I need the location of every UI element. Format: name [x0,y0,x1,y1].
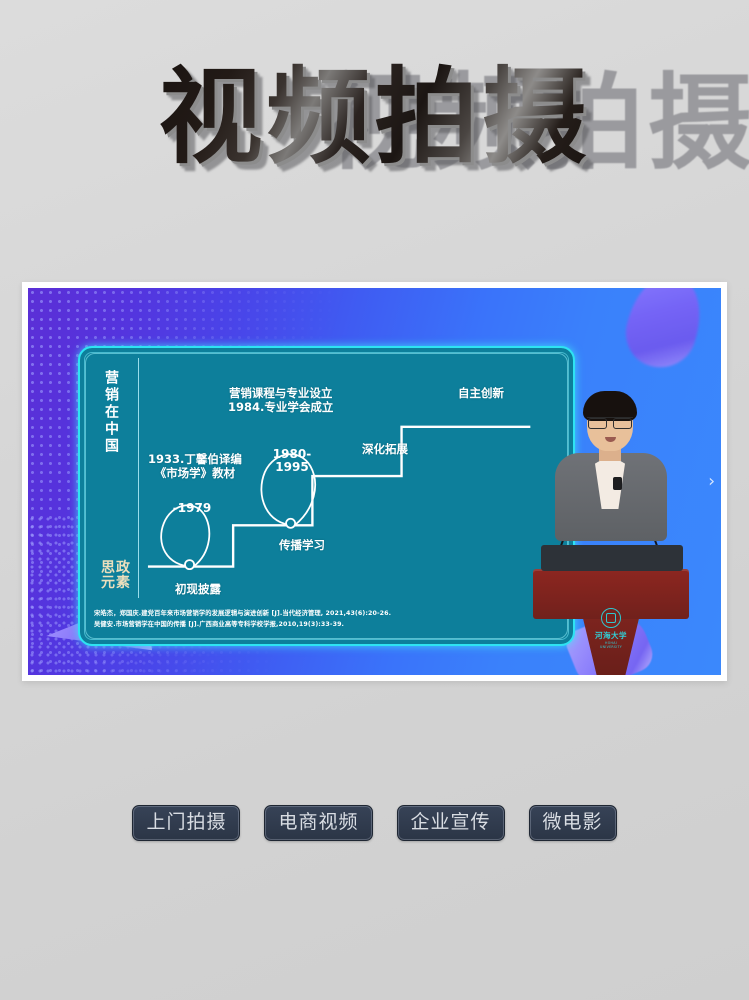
panel-vertical-divider [138,358,139,598]
timeline-caption-2: 传播学习 [262,538,342,552]
page-title: 视频拍摄 视频拍摄 [0,58,749,208]
university-emblem: 河海大学 HOHAI UNIVERSITY [595,608,627,649]
chevron-right-icon[interactable]: › [708,473,715,490]
decor-blob-top-right-icon [618,288,711,376]
slide-canvas: 营销在中国 思政元素 1933.丁馨伯译编 《市场学》教材 [28,288,721,675]
page-title-text: 视频拍摄 [158,58,590,178]
service-tag-row: 上门拍摄 电商视频 企业宣传 微电影 [0,805,749,841]
timeline-note-2: 营销课程与专业设立 1984.专业学会成立 [228,386,333,415]
university-seal-icon [601,608,621,628]
sizheng-label: 思政元素 [96,561,136,592]
tag-button-corporate-promo[interactable]: 企业宣传 [397,805,505,841]
podium-desktop [541,545,683,571]
presenter-lapel-mic-icon [613,477,622,490]
timeline-step-chart: 1933.丁馨伯译编 《市场学》教材 -1979 初现披露 营销课程与专业设立 … [142,356,567,604]
timeline-pin-1: -1979 [156,502,228,515]
timeline-caption-4: 自主创新 [438,386,524,400]
timeline-caption-3: 深化拓展 [342,442,428,456]
slide-photo-frame: 营销在中国 思政元素 1933.丁馨伯译编 《市场学》教材 [22,282,727,681]
presenter-figure: 河海大学 HOHAI UNIVERSITY [531,385,691,675]
tag-button-ecommerce-video[interactable]: 电商视频 [264,805,372,841]
tag-button-onsite-shooting[interactable]: 上门拍摄 [132,805,240,841]
timeline-caption-1: 初现披露 [162,582,234,596]
timeline-note-1: 1933.丁馨伯译编 《市场学》教材 [148,452,242,481]
slide-content-panel: 营销在中国 思政元素 1933.丁馨伯译编 《市场学》教材 [78,346,575,646]
citation-block: 宋皓杰，郑国庆.建党百年来市场营销学的发展逻辑与演进创新 [J].当代经济管理,… [94,608,559,630]
slide-vertical-title: 营销在中国 [104,370,118,455]
university-name-en: HOHAI UNIVERSITY [595,641,627,649]
citation-line-1: 宋皓杰，郑国庆.建党百年来市场营销学的发展逻辑与演进创新 [J].当代经济管理,… [94,608,559,619]
presenter-glasses-icon [587,417,633,427]
university-name-cn: 河海大学 [595,630,627,641]
citation-line-2: 吴健安.市场营销学在中国的传播 [J].广西商业高等专科学校学报,2010,19… [94,619,559,630]
tag-button-micro-film[interactable]: 微电影 [529,805,617,841]
timeline-pin-2: 1980- 1995 [256,448,328,474]
